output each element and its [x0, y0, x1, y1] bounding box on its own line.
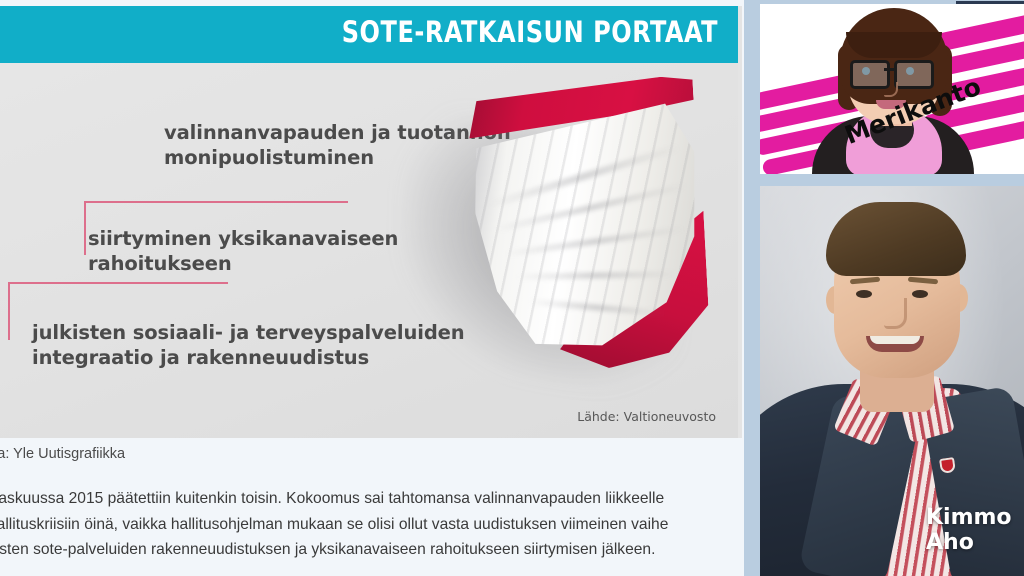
figure-title: SOTE-RATKAISUN PORTAAT — [342, 15, 718, 49]
sock-body — [461, 75, 711, 375]
step-label-rahoitus: siirtyminen yksikanavaiseen rahoitukseen — [88, 227, 398, 276]
news-graphic-figure: SOTE-RATKAISUN PORTAAT valinnanvapauden … — [0, 6, 742, 438]
sock-illustration — [428, 71, 728, 401]
screenshot-root: SOTE-RATKAISUN PORTAAT valinnanvapauden … — [0, 0, 1024, 576]
right-column: Merikanto Kimmo Aho — [752, 0, 1024, 576]
figure-caption: va: Yle Uutisgrafiikka — [0, 446, 730, 462]
photo-teeth — [870, 336, 920, 344]
figure-canvas: valinnanvapauden ja tuotannon monipuolis… — [0, 63, 738, 438]
portrait-fringe — [846, 32, 942, 58]
portrait-glasses-right — [894, 60, 934, 89]
photo-eye-left — [856, 290, 872, 298]
figure-header-bar: SOTE-RATKAISUN PORTAAT — [0, 6, 738, 63]
photo-hair — [826, 202, 966, 276]
body-line: kisten sote-palveluiden rakenneuudistuks… — [0, 537, 734, 563]
portrait-glasses-bridge — [884, 68, 896, 71]
article-column: SOTE-RATKAISUN PORTAAT valinnanvapauden … — [0, 0, 752, 576]
body-line: rraskuussa 2015 päätettiin kuitenkin toi… — [0, 486, 734, 512]
panel-divider — [752, 174, 1024, 186]
person-photo-card[interactable]: Kimmo Aho — [760, 186, 1024, 576]
photo-nose — [884, 298, 907, 329]
article-right-edge — [744, 0, 752, 576]
figure-source-credit: Lähde: Valtioneuvosto — [577, 409, 716, 424]
photo-eye-right — [912, 290, 928, 298]
columnist-illustration-card[interactable]: Merikanto — [760, 4, 1024, 174]
body-line: hallituskriisiin öinä, vaikka hallitusoh… — [0, 512, 734, 538]
article-body-text: rraskuussa 2015 päätettiin kuitenkin toi… — [0, 486, 734, 563]
photo-mouth — [866, 336, 924, 352]
person-name-label: Kimmo Aho — [926, 506, 1012, 556]
step-label-integraatio: julkisten sosiaali- ja terveyspalveluide… — [32, 321, 465, 370]
